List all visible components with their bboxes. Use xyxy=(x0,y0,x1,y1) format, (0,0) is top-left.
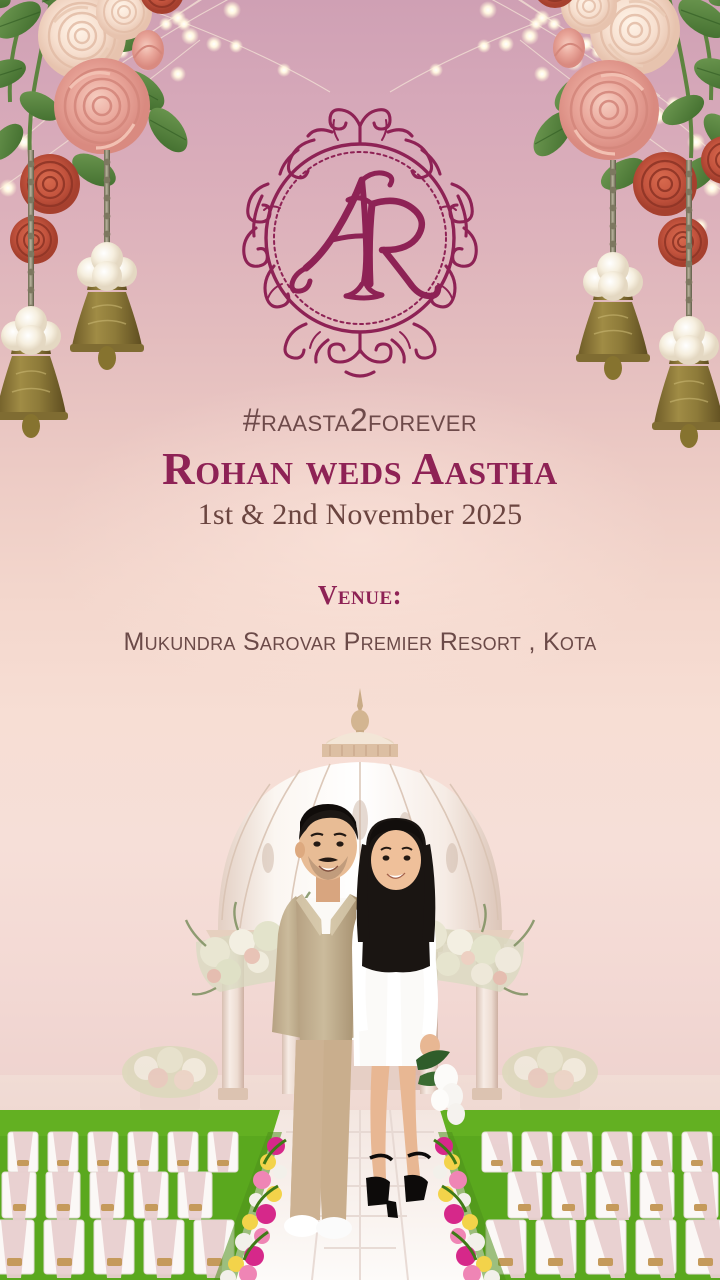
wedding-hashtag: #RAasta2forever xyxy=(0,404,720,436)
floral-cluster-top-right xyxy=(483,0,720,334)
bell-flower xyxy=(77,242,137,291)
rose-red-3 xyxy=(140,0,184,14)
bell-flower xyxy=(659,316,719,365)
monogram-crest xyxy=(210,88,510,388)
couple-names: Rohan weds Aastha xyxy=(0,447,720,492)
rose-cream-small xyxy=(96,0,152,40)
venue-label: Venue: xyxy=(0,582,720,609)
rose-red-right-3 xyxy=(701,136,720,184)
venue-name: Mukundra Sarovar Premier Resort , Kota xyxy=(0,630,720,655)
invitation-text-block: #RAasta2forever Rohan weds Aastha 1st & … xyxy=(0,404,720,655)
rose-pink xyxy=(54,58,150,154)
rose-red-right-1 xyxy=(633,152,697,216)
rose-cream xyxy=(38,0,126,80)
rose-cream-right xyxy=(590,0,680,75)
ceremony-scene xyxy=(0,680,720,1280)
rose-red-right-4 xyxy=(533,0,577,8)
rose-red-right-2 xyxy=(658,217,708,267)
rose-bud xyxy=(132,30,164,70)
temple-bell xyxy=(70,242,144,370)
rose-red-1 xyxy=(20,154,80,214)
bell-flower xyxy=(1,306,61,355)
rose-red-2 xyxy=(10,216,58,264)
temple-bell xyxy=(576,252,650,380)
floral-cluster-top-left xyxy=(0,0,232,318)
rose-pink-right xyxy=(559,60,659,160)
rose-cream-right-small xyxy=(561,0,617,34)
rose-bud-right xyxy=(553,28,585,68)
bell-flower xyxy=(583,252,643,301)
wedding-date: 1st & 2nd November 2025 xyxy=(0,500,720,530)
wedding-invitation-card: #RAasta2forever Rohan weds Aastha 1st & … xyxy=(0,0,720,1280)
